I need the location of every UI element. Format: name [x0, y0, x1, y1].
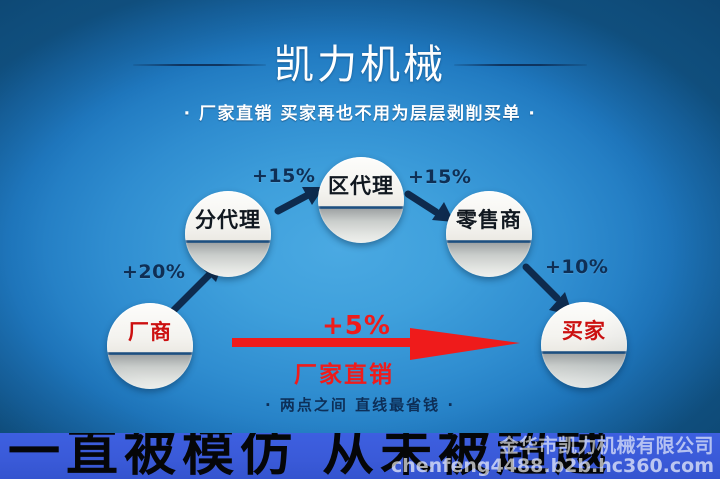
- markup-label-manufacturer-sub-agent: +20%: [122, 261, 185, 283]
- markup-label-retailer-buyer: +10%: [545, 256, 608, 278]
- node-sub-agent: 分代理: [185, 191, 271, 277]
- title-rule-left: [133, 64, 266, 66]
- node-manufacturer: 厂商: [107, 303, 193, 389]
- title-row: 凯力机械: [0, 38, 720, 92]
- markup-label-area-agent-retailer: +15%: [408, 166, 471, 188]
- node-buyer-label: 买家: [562, 321, 606, 342]
- direct-sales-markup: +5%: [322, 311, 391, 341]
- title-rule-right: [454, 64, 587, 66]
- node-manufacturer-label: 厂商: [128, 322, 172, 343]
- promo-poster: 凯力机械 · 厂家直销 买家再也不用为层层剥削买单 · +20% +15% +1…: [0, 0, 720, 479]
- bottom-banner: 一直被模仿 从未被超越: [0, 433, 720, 479]
- tagline: · 两点之间 直线最省钱 ·: [0, 394, 720, 415]
- markup-label-sub-agent-area-agent: +15%: [252, 165, 315, 187]
- node-retailer: 零售商: [446, 191, 532, 277]
- node-buyer: 买家: [541, 302, 627, 388]
- node-area-agent-label: 区代理: [328, 176, 394, 197]
- node-area-agent: 区代理: [318, 157, 404, 243]
- bottom-banner-text: 一直被模仿 从未被超越: [8, 433, 612, 479]
- direct-sales-label: 厂家直销: [294, 355, 394, 389]
- node-retailer-label: 零售商: [456, 210, 522, 231]
- page-subtitle: · 厂家直销 买家再也不用为层层剥削买单 ·: [0, 99, 720, 124]
- node-sub-agent-label: 分代理: [195, 210, 261, 231]
- page-title: 凯力机械: [274, 45, 446, 85]
